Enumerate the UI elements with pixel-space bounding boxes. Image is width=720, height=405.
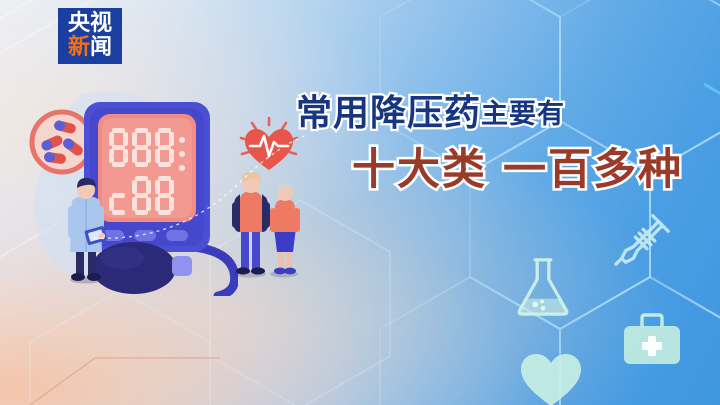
syringe-icon	[612, 208, 678, 270]
headline-line-1: 常用降压药主要有	[296, 96, 706, 132]
headline-line2-part-b: 一百多种	[503, 145, 683, 195]
headline-line1-secondary: 主要有	[481, 99, 565, 130]
logo-char-wen: 闻	[90, 37, 112, 59]
cctv-news-logo: 央 视 新 闻	[58, 8, 122, 64]
first-aid-kit-icon	[620, 310, 684, 368]
headline-line2-part-a: 十大类	[352, 145, 487, 195]
logo-char-xin: 新	[68, 37, 90, 59]
flask-icon	[512, 254, 574, 320]
headline-block: 常用降压药主要有 十大类 一百多种	[296, 96, 706, 192]
news-graphic-canvas: 央 视 新 闻 常用降压药主要有 十大类 一百多种	[0, 0, 720, 405]
headline-line1-primary: 常用降压药	[296, 93, 481, 134]
heart-icon	[518, 352, 584, 405]
headline-line-2: 十大类 一百多种	[352, 149, 706, 192]
logo-char-yang: 央	[68, 13, 90, 35]
logo-char-shi: 视	[90, 13, 112, 35]
headline-spacer	[487, 149, 503, 192]
guide-dotted-line	[90, 130, 310, 260]
